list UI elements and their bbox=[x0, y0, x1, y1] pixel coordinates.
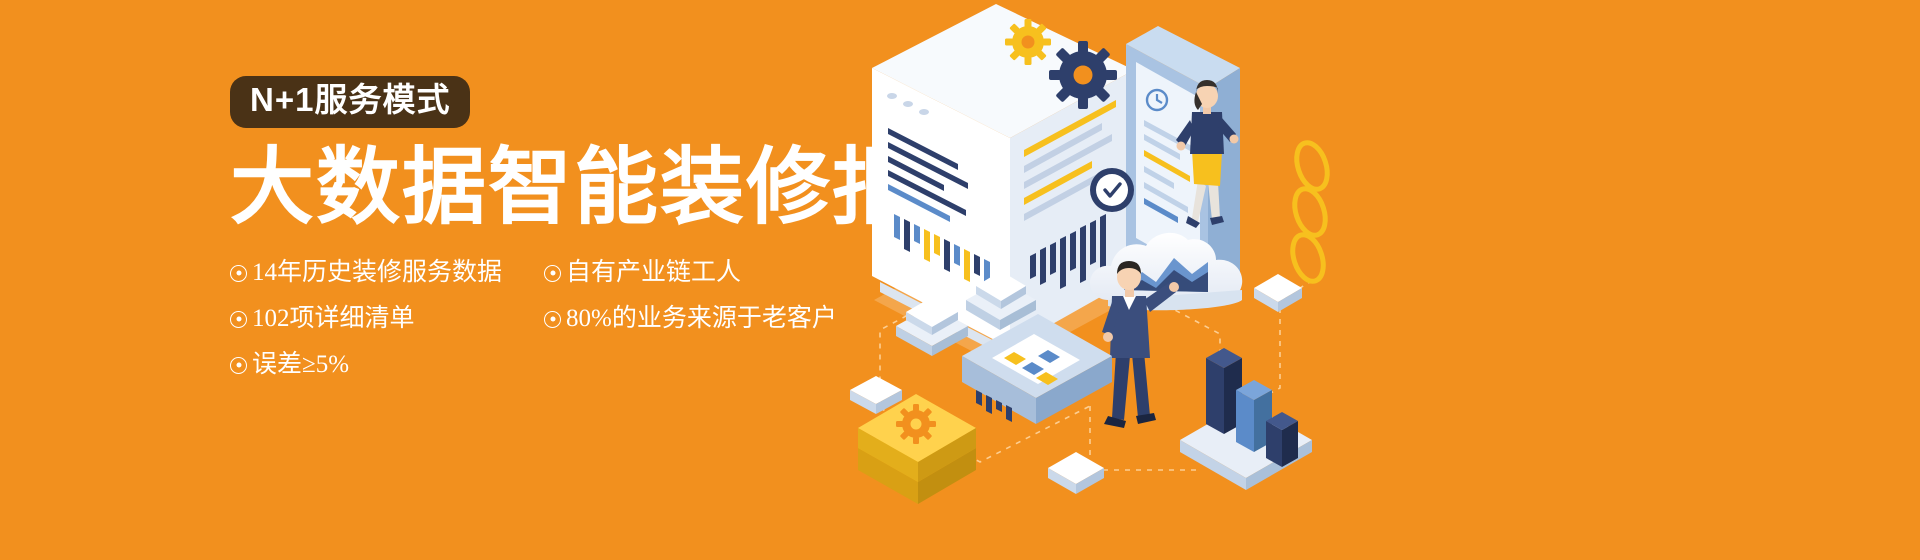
floating-plate-c bbox=[1254, 274, 1302, 312]
bar-chart-blocks bbox=[1180, 348, 1312, 490]
list-item: 14年历史装修服务数据 bbox=[230, 254, 540, 292]
feature-label: 自有产业链工人 bbox=[566, 254, 741, 292]
gear-large-icon bbox=[1049, 41, 1117, 109]
banner-copy: N+1服务模式 大数据智能装修报价 14年历史装修服务数据 102项详细清单 误… bbox=[230, 76, 930, 384]
list-item: 误差≥5% bbox=[230, 346, 540, 384]
circled-dot-icon bbox=[230, 311, 247, 328]
circled-dot-icon bbox=[544, 265, 561, 282]
feature-label: 102项详细清单 bbox=[252, 300, 415, 338]
floating-plate-b bbox=[1048, 452, 1104, 494]
circled-dot-icon bbox=[544, 311, 561, 328]
ring-stack bbox=[1287, 139, 1332, 285]
circled-dot-icon bbox=[230, 357, 247, 374]
circled-dot-icon bbox=[230, 265, 247, 282]
gear-small-icon bbox=[1005, 19, 1051, 65]
page-title: 大数据智能装修报价 bbox=[230, 142, 930, 233]
feature-label: 80%的业务来源于老客户 bbox=[566, 300, 837, 338]
feature-label: 误差≥5% bbox=[252, 346, 349, 384]
feature-label: 14年历史装修服务数据 bbox=[252, 254, 502, 292]
isometric-big-data-illustration bbox=[840, 0, 1380, 560]
list-item: 102项详细清单 bbox=[230, 300, 540, 338]
service-model-badge: N+1服务模式 bbox=[230, 76, 470, 128]
checkmark-badge-icon bbox=[1090, 168, 1134, 212]
promo-banner: N+1服务模式 大数据智能装修报价 14年历史装修服务数据 102项详细清单 误… bbox=[0, 0, 1920, 560]
feature-list: 14年历史装修服务数据 102项详细清单 误差≥5% 自有产业链工人 80%的业… bbox=[230, 254, 930, 384]
